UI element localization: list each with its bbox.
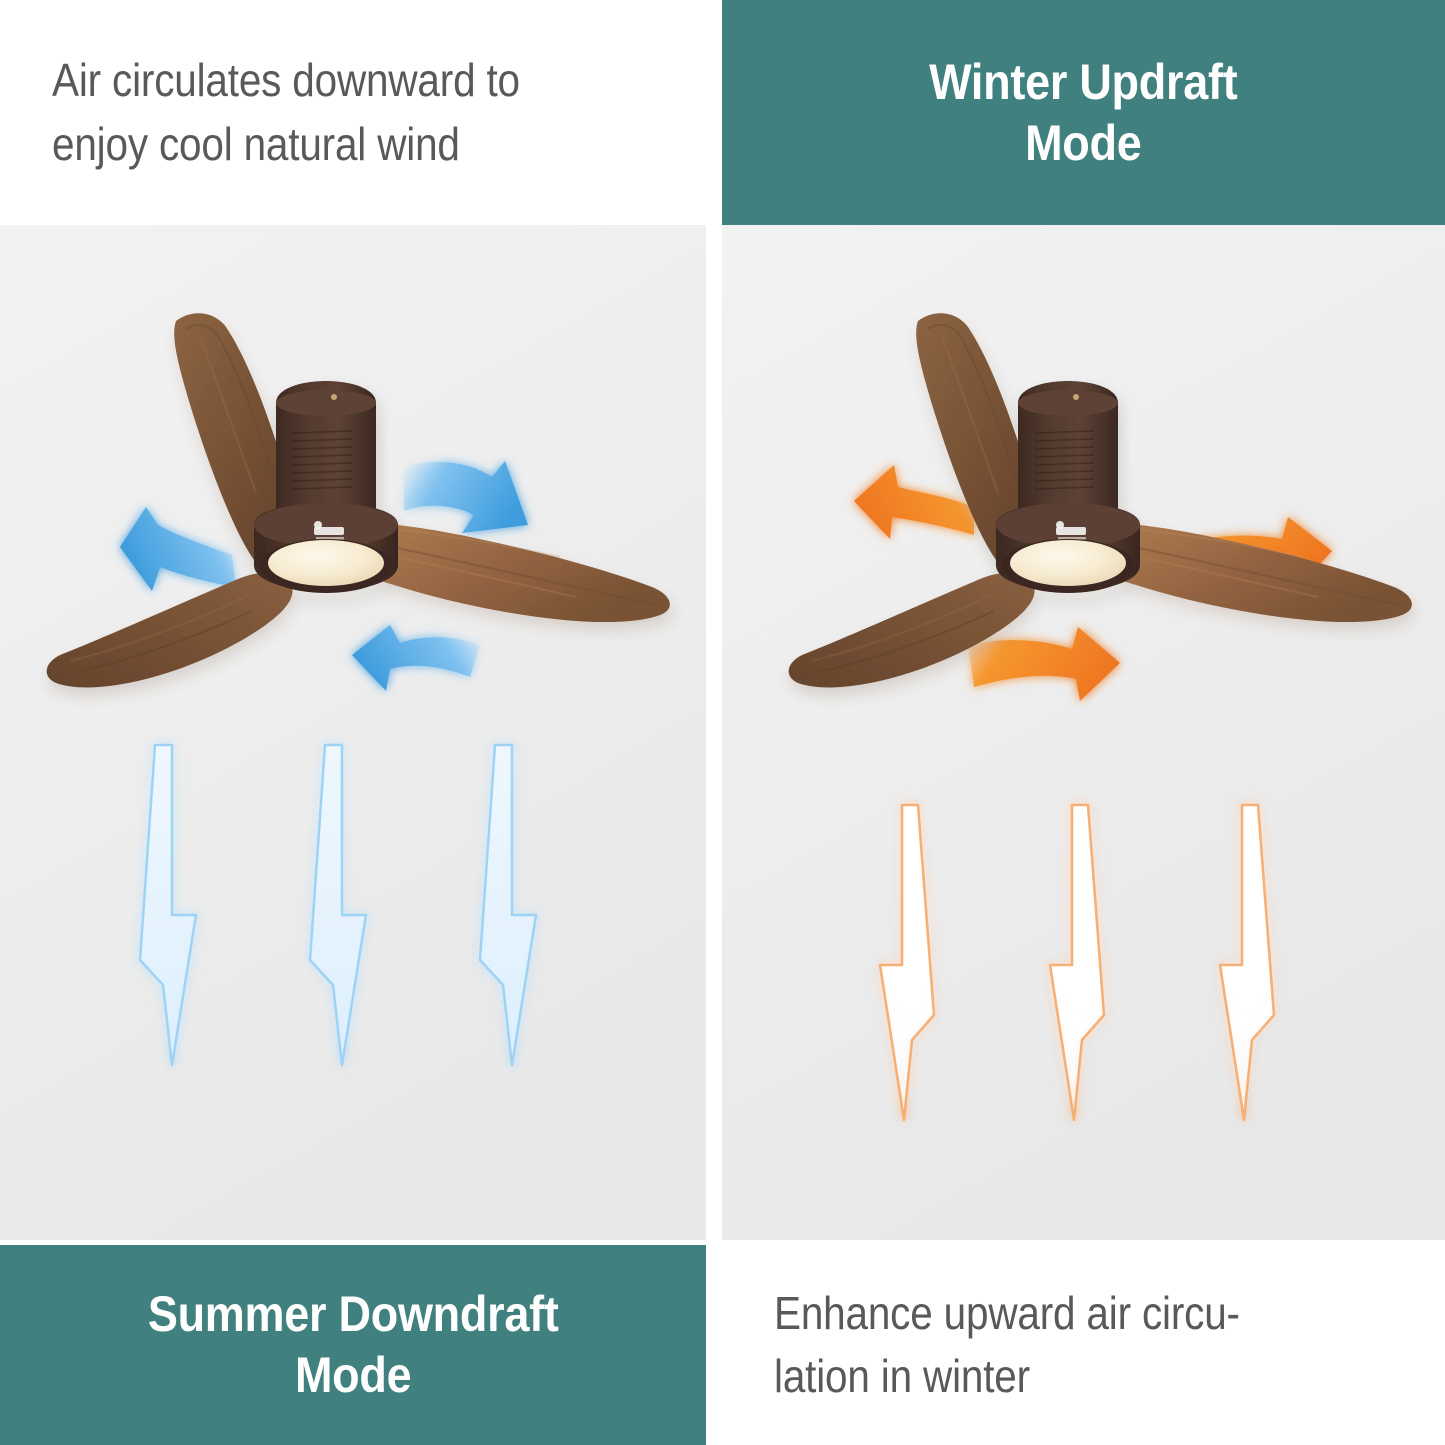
panel-top-left-caption: Air circulates downward to enjoy cool na… [0,0,706,225]
led-light-disc [268,540,384,586]
housing-screw [1073,394,1079,400]
title-winter-updraft-mode: Winter Updraft Mode [929,52,1237,174]
infographic-root: Air circulates downward to enjoy cool na… [0,0,1445,1445]
photo-winter-updraft [722,225,1445,1240]
led-light-disc [1010,540,1126,586]
title-summer-downdraft-mode: Summer Downdraft Mode [148,1284,559,1406]
housing-screw [331,394,337,400]
panel-bottom-left-banner: Summer Downdraft Mode [0,1245,706,1445]
panel-top-right-banner: Winter Updraft Mode [722,0,1445,225]
caption-winter-description: Enhance upward air circu- lation in wint… [774,1282,1240,1409]
winter-fan-illustration [722,225,1445,1240]
caption-summer-description: Air circulates downward to enjoy cool na… [52,49,520,176]
summer-fan-illustration [0,225,706,1240]
photo-summer-downdraft [0,225,706,1240]
panel-bottom-right-caption: Enhance upward air circu- lation in wint… [722,1245,1445,1445]
